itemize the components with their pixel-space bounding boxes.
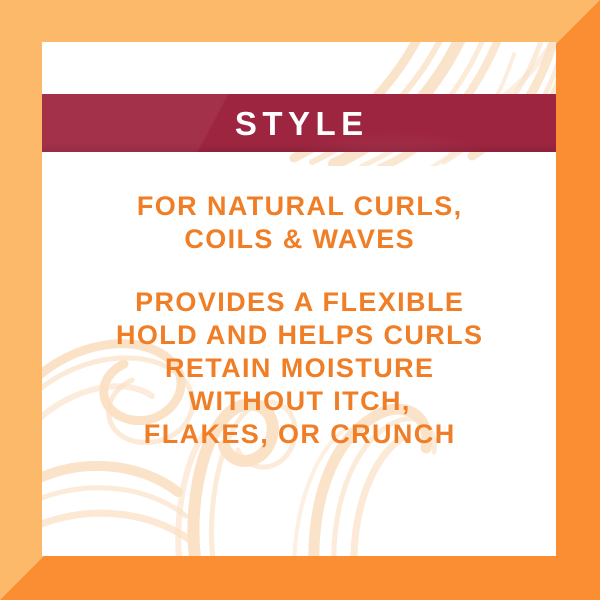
paragraph-benefits: PROVIDES A FLEXIBLE HOLD AND HELPS CURLS… (42, 286, 556, 451)
copy-line: RETAIN MOISTURE (42, 352, 556, 385)
copy-line: HOLD AND HELPS CURLS (42, 319, 556, 352)
copy-line: PROVIDES A FLEXIBLE (42, 286, 556, 319)
frame-dark-orange-right-band (556, 0, 600, 600)
style-banner: STYLE (42, 94, 556, 152)
copy-line: COILS & WAVES (42, 223, 556, 256)
copy-line: FOR NATURAL CURLS, (42, 190, 556, 223)
copy-line: FLAKES, OR CRUNCH (42, 418, 556, 451)
copy-line: WITHOUT ITCH, (42, 385, 556, 418)
frame-dark-orange-bottom-band (0, 556, 600, 600)
paragraph-hair-types: FOR NATURAL CURLS, COILS & WAVES (42, 190, 556, 256)
body-copy: FOR NATURAL CURLS, COILS & WAVES PROVIDE… (42, 190, 556, 451)
poster-canvas: STYLE FOR NATURAL CURLS, COILS & WAVES P… (0, 0, 600, 600)
content-card: STYLE FOR NATURAL CURLS, COILS & WAVES P… (42, 42, 556, 556)
banner-title: STYLE (229, 107, 368, 140)
